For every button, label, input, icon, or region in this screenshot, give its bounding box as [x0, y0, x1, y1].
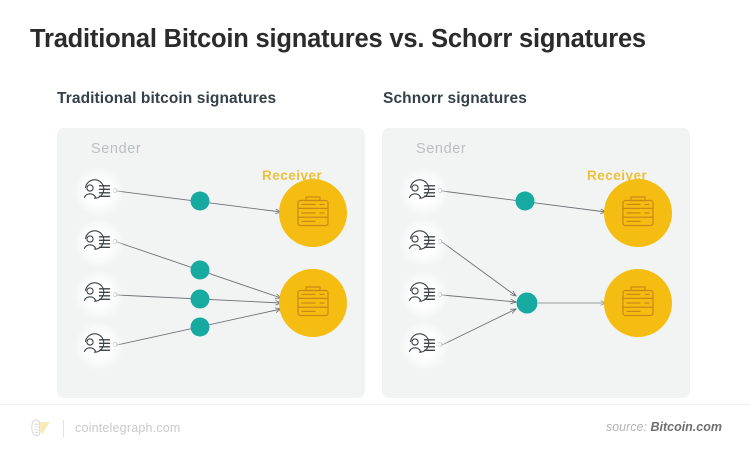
receiver-node-2 — [604, 269, 672, 337]
flow-arrow-4 — [442, 309, 516, 345]
sender-label: Sender — [91, 141, 141, 157]
signature-dot-1 — [516, 192, 535, 211]
footer-brand-text: cointelegraph.com — [75, 421, 181, 435]
section-subtitle-schnorr: Schnorr signatures — [383, 90, 527, 108]
sender-node-1 — [399, 167, 449, 217]
sender-label: Sender — [416, 141, 466, 157]
signature-dot-aggregated — [517, 293, 538, 314]
signature-dot-1 — [191, 192, 210, 211]
receiver-nodes — [279, 179, 347, 337]
sender-node-2 — [399, 218, 449, 268]
sender-node-4 — [74, 321, 124, 371]
receiver-node-1 — [279, 179, 347, 247]
signature-dots — [191, 192, 210, 337]
signature-dot-4 — [191, 318, 210, 337]
sender-node-2 — [74, 218, 124, 268]
flow-arrow-2 — [442, 242, 516, 296]
sender-node-3 — [74, 270, 124, 320]
page-title: Traditional Bitcoin signatures vs. Schor… — [30, 24, 720, 55]
sender-node-1 — [74, 167, 124, 217]
footer-source-label: source: — [606, 420, 647, 434]
panel-traditional-signatures: Sender Receiver — [57, 128, 365, 398]
footer-brand[interactable]: cointelegraph.com — [30, 418, 181, 438]
sender-nodes — [399, 167, 449, 371]
flow-arrows — [438, 189, 606, 347]
footer-source-name: Bitcoin.com — [650, 420, 722, 434]
receiver-nodes — [604, 179, 672, 337]
flow-arrow-3 — [442, 295, 516, 302]
receiver-node-2 — [279, 269, 347, 337]
receiver-label: Receiver — [587, 168, 647, 183]
sender-nodes — [74, 167, 124, 371]
cointelegraph-logo-icon — [30, 418, 52, 438]
sender-node-3 — [399, 270, 449, 320]
signature-dot-2 — [191, 261, 210, 280]
receiver-label: Receiver — [262, 168, 322, 183]
signature-dot-3 — [191, 290, 210, 309]
footer-divider-rule — [0, 404, 750, 405]
footer-source: source: Bitcoin.com — [606, 420, 722, 434]
panel-schnorr-signatures: Sender Receiver — [382, 128, 690, 398]
sender-node-4 — [399, 321, 449, 371]
receiver-node-1 — [604, 179, 672, 247]
section-subtitle-traditional: Traditional bitcoin signatures — [57, 90, 276, 108]
signature-dots — [516, 192, 538, 314]
footer-separator — [63, 420, 64, 437]
